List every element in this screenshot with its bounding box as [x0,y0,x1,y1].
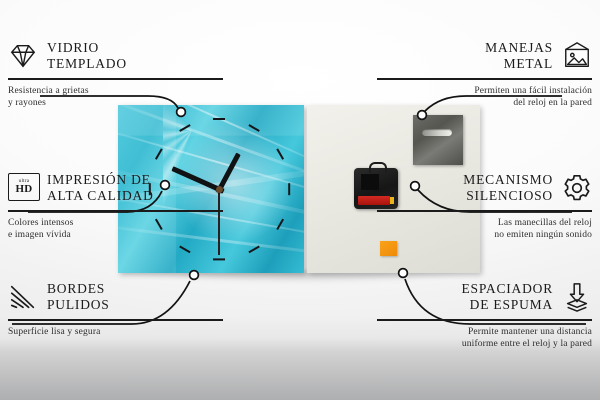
product-infographic: VIDRIO TEMPLADO Resistencia a grietas y … [0,0,600,400]
feature-title: ESPACIADOR DE ESPUMA [461,281,553,314]
clock-tick [213,118,225,120]
feature-title: MECANISMO SILENCIOSO [463,172,553,205]
feature-subtitle-line1: Permiten una fácil instalación [377,85,592,98]
feature-title-line1: ESPACIADOR [461,281,553,297]
feature-rule [377,78,592,80]
feature-subtitle: Las manecillas del reloj no emiten ningú… [377,217,592,243]
feature-rule [8,319,223,321]
feature-rule [377,319,592,321]
ultra-hd-icon: ultra HD [8,173,38,203]
feature-vidrio-templado: VIDRIO TEMPLADO Resistencia a grietas y … [8,40,223,110]
feature-title: MANEJAS METAL [485,40,553,73]
diamond-icon [8,41,38,71]
feature-title-line2: ALTA CALIDAD [47,188,154,204]
feature-espaciador-espuma: ESPACIADOR DE ESPUMA Permite mantener un… [377,281,592,351]
feature-rule [8,78,223,80]
feature-subtitle-line2: no emiten ningún sonido [377,229,592,242]
feature-subtitle: Permiten una fácil instalación del reloj… [377,85,592,111]
feature-subtitle-line2: y rayones [8,97,223,110]
feature-header: VIDRIO TEMPLADO [8,40,223,73]
polished-edges-icon [8,282,38,312]
feature-header: ESPACIADOR DE ESPUMA [377,281,592,314]
feature-title-line1: MECANISMO [463,172,553,188]
feature-mecanismo-silencioso: MECANISMO SILENCIOSO Las manecillas del … [377,172,592,242]
feature-header: ultra HD IMPRESIÓN DE ALTA CALIDAD [8,172,223,205]
feature-subtitle: Resistencia a grietas y rayones [8,85,223,111]
feature-title-line1: MANEJAS [485,40,553,56]
feature-subtitle-line1: Permite mantener una distancia [377,326,592,339]
clock-tick [213,258,225,260]
feature-subtitle: Colores intensos e imagen vívida [8,217,223,243]
feature-title-line1: VIDRIO [47,40,127,56]
feature-title-line2: DE ESPUMA [461,297,553,313]
feature-subtitle-line1: Resistencia a grietas [8,85,223,98]
feature-manejas-metal: MANEJAS METAL Permiten una fácil instala… [377,40,592,110]
feature-title: IMPRESIÓN DE ALTA CALIDAD [47,172,154,205]
feature-bordes-pulidos: BORDES PULIDOS Superficie lisa y segura [8,281,223,338]
feature-subtitle-line2: e imagen vívida [8,229,223,242]
feature-title-line1: BORDES [47,281,110,297]
feature-subtitle-line2: uniforme entre el reloj y la pared [377,338,592,351]
feature-subtitle: Permite mantener una distancia uniforme … [377,326,592,352]
picture-frame-icon [562,41,592,71]
feature-title: VIDRIO TEMPLADO [47,40,127,73]
hanger-slot [422,129,452,136]
feature-title-line2: PULIDOS [47,297,110,313]
feature-header: BORDES PULIDOS [8,281,223,314]
feature-impresion-alta-calidad: ultra HD IMPRESIÓN DE ALTA CALIDAD Color… [8,172,223,242]
feature-header: MECANISMO SILENCIOSO [377,172,592,205]
feature-header: MANEJAS METAL [377,40,592,73]
feature-title-line2: SILENCIOSO [463,188,553,204]
clock-tick [288,183,290,195]
feature-title: BORDES PULIDOS [47,281,110,314]
feature-subtitle-line1: Superficie lisa y segura [8,326,223,339]
foam-spacer-icon [562,282,592,312]
feature-title-line1: IMPRESIÓN DE [47,172,154,188]
feature-subtitle-line2: del reloj en la pared [377,97,592,110]
feature-subtitle: Superficie lisa y segura [8,326,223,339]
feature-title-line2: METAL [485,56,553,72]
gear-icon [562,173,592,203]
feature-subtitle-line1: Colores intensos [8,217,223,230]
feature-rule [377,210,592,212]
metal-hanger-plate [413,115,463,165]
feature-subtitle-line1: Las manecillas del reloj [377,217,592,230]
feature-title-line2: TEMPLADO [47,56,127,72]
foam-spacer [380,241,397,256]
feature-rule [8,210,223,212]
hd-icon-main-text: HD [15,184,32,195]
